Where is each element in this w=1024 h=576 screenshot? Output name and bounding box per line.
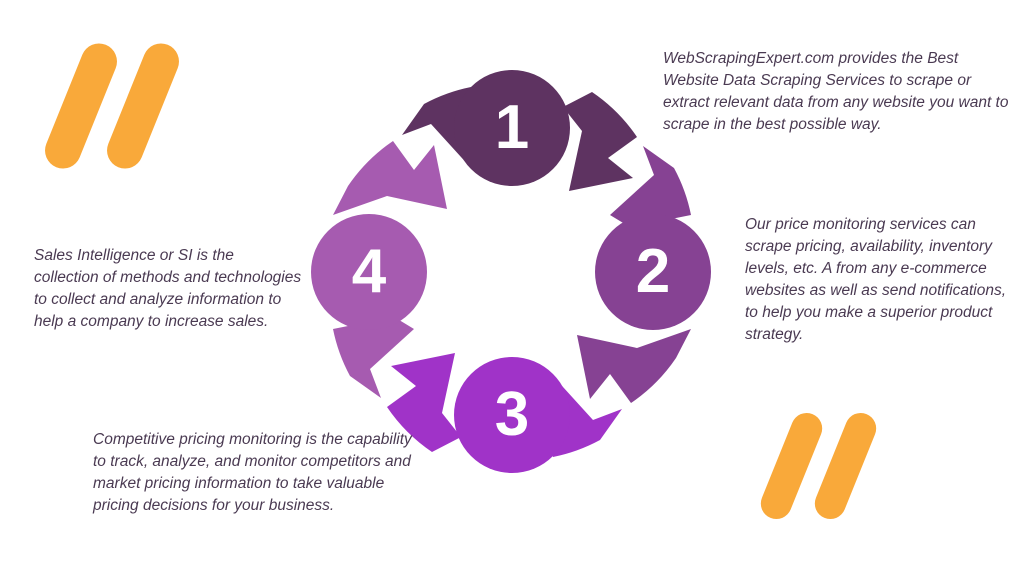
cycle-node-2[interactable]: 2	[595, 214, 711, 330]
cycle-arrow-1-to-2-segment-from	[563, 92, 637, 191]
callout-step-2: Our price monitoring services can scrape…	[745, 214, 1013, 346]
cycle-node-3[interactable]: 3	[454, 357, 570, 473]
cycle-node-4-number: 4	[352, 241, 386, 303]
cycle-node-4[interactable]: 4	[311, 214, 427, 330]
orange-double-slash-bottom-right-icon	[770, 410, 945, 522]
infographic-canvas: 1 2 3 4 WebScrapingExpert.com provides t…	[0, 0, 1024, 576]
cycle-arrow-2-to-3-segment-from	[577, 329, 691, 403]
cycle-node-1[interactable]: 1	[454, 70, 570, 186]
cycle-node-2-number: 2	[636, 241, 670, 303]
cycle-node-3-number: 3	[495, 384, 529, 446]
callout-step-1: WebScrapingExpert.com provides the Best …	[663, 48, 1015, 136]
callout-step-3: Competitive pricing monitoring is the ca…	[93, 429, 413, 517]
cycle-arrow-4-to-1-segment-from	[333, 141, 447, 215]
callout-step-4: Sales Intelligence or SI is the collecti…	[34, 245, 302, 333]
cycle-node-1-number: 1	[495, 97, 529, 159]
orange-double-slash-top-left-icon	[55, 38, 270, 173]
